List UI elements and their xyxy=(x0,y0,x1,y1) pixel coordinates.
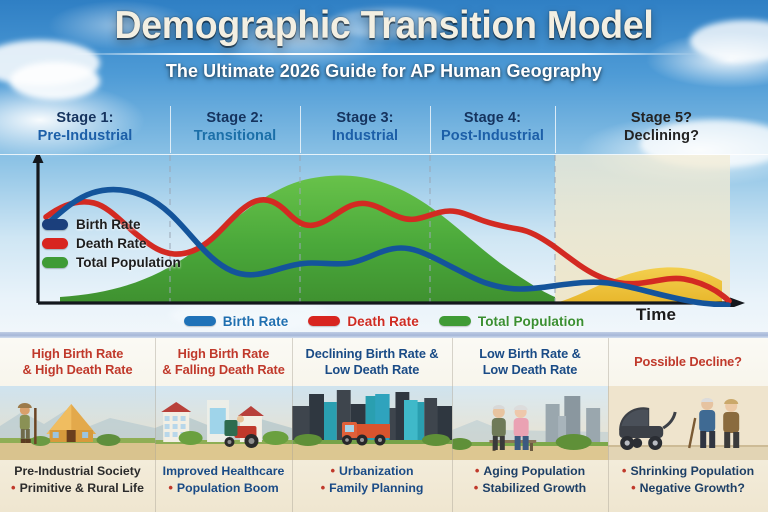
legend-label: Birth Rate xyxy=(76,217,141,232)
card-bullet-list: •Urbanization•Family Planning xyxy=(292,460,452,512)
card-bullet-label: Shrinking Population xyxy=(630,463,754,480)
card-bullet-item: •Urbanization xyxy=(330,463,413,480)
card-illustration-hut-and-villager xyxy=(0,386,155,460)
stage-subtitle: Industrial xyxy=(332,128,398,145)
legend-label: Birth Rate xyxy=(223,314,289,329)
legend-swatch-icon xyxy=(42,219,68,230)
card-bullet-item: Pre-Industrial Society xyxy=(14,463,140,480)
card-bullet-label: Stabilized Growth xyxy=(482,480,586,497)
card-illustration-empty-pram-and-elders xyxy=(608,386,768,460)
legend-swatch-icon xyxy=(42,238,68,249)
bullet-dot-icon: • xyxy=(330,464,335,477)
card-bullet-item: •Family Planning xyxy=(321,480,424,497)
card-bullet-item: •Aging Population xyxy=(475,463,585,480)
legend-item: Total Population xyxy=(42,255,181,270)
card-bullet-list: Improved Healthcare•Population Boom xyxy=(155,460,292,512)
legend-item: Death Rate xyxy=(308,314,419,329)
stage-header-2: Stage 2:Transitional xyxy=(170,100,300,155)
legend-item: Birth Rate xyxy=(42,217,181,232)
bullet-dot-icon: • xyxy=(168,481,173,494)
card-headline: Declining Birth Rate &Low Death Rate xyxy=(292,338,452,386)
card-bullet-list: Pre-Industrial Society•Primitive & Rural… xyxy=(0,460,155,512)
card-bullet-label: Improved Healthcare xyxy=(163,463,285,480)
card-headline: High Birth Rate& Falling Death Rate xyxy=(155,338,292,386)
card-bullet-label: Negative Growth? xyxy=(640,480,745,497)
bullet-dot-icon: • xyxy=(321,481,326,494)
legend-label: Death Rate xyxy=(347,314,419,329)
legend-swatch-icon xyxy=(308,316,340,326)
stage-title: Stage 5? xyxy=(631,110,692,127)
legend-label: Total Population xyxy=(76,255,181,270)
stage-title: Stage 1: xyxy=(56,110,113,127)
card-bullet-label: Primitive & Rural Life xyxy=(20,480,144,497)
card-headline-line1: Declining Birth Rate & xyxy=(306,346,439,362)
legend-item: Birth Rate xyxy=(184,314,289,329)
bullet-dot-icon: • xyxy=(631,481,636,494)
card-headline: Possible Decline? xyxy=(608,338,768,386)
card-bullet-item: •Shrinking Population xyxy=(622,463,754,480)
card-headline: Low Birth Rate &Low Death Rate xyxy=(452,338,608,386)
card-headline-line1: Low Birth Rate & xyxy=(479,346,581,362)
legend-swatch-icon xyxy=(184,316,216,326)
stage-header-5: Stage 5?Declining? xyxy=(555,100,768,155)
chart-bottom-legend: Birth RateDeath RateTotal Population xyxy=(0,310,768,332)
legend-item: Death Rate xyxy=(42,236,181,251)
legend-swatch-icon xyxy=(42,257,68,268)
stage-subtitle: Post-Industrial xyxy=(441,128,544,145)
card-bullet-list: •Shrinking Population•Negative Growth? xyxy=(608,460,768,512)
stage-header-3: Stage 3:Industrial xyxy=(300,100,430,155)
card-bullet-item: •Population Boom xyxy=(168,480,278,497)
card-headline-line2: Low Death Rate xyxy=(325,362,420,378)
card-headline-line2: & Falling Death Rate xyxy=(162,362,284,378)
stage-header-4: Stage 4:Post-Industrial xyxy=(430,100,555,155)
card-headline-line1: Possible Decline? xyxy=(634,354,742,370)
legend-label: Total Population xyxy=(478,314,584,329)
chart-inner-legend: Birth RateDeath RateTotal Population xyxy=(42,217,181,274)
stage-title: Stage 2: xyxy=(206,110,263,127)
card-bullet-item: Improved Healthcare xyxy=(163,463,285,480)
stage-card-3[interactable]: Declining Birth Rate &Low Death Rate•Urb… xyxy=(292,338,452,512)
title-block: Demographic Transition Model The Ultimat… xyxy=(0,6,768,82)
stage-card-4[interactable]: Low Birth Rate &Low Death Rate•Aging Pop… xyxy=(452,338,608,512)
card-bullet-label: Aging Population xyxy=(483,463,585,480)
card-headline-line1: High Birth Rate xyxy=(32,346,124,362)
stage-subtitle: Pre-Industrial xyxy=(38,128,133,145)
card-headline-line2: & High Death Rate xyxy=(23,362,133,378)
stage-card-5[interactable]: Possible Decline?•Shrinking Population•N… xyxy=(608,338,768,512)
card-headline-line1: High Birth Rate xyxy=(178,346,270,362)
bullet-dot-icon: • xyxy=(474,481,479,494)
card-illustration-industrial-city-and-truck xyxy=(292,386,452,460)
card-illustration-town-and-tractor xyxy=(155,386,292,460)
bullet-dot-icon: • xyxy=(11,481,16,494)
legend-item: Total Population xyxy=(439,314,584,329)
bullet-dot-icon: • xyxy=(622,464,627,477)
stage-cards-row: High Birth Rate& High Death RatePre-Indu… xyxy=(0,338,768,512)
stage-header-1: Stage 1:Pre-Industrial xyxy=(0,100,170,155)
legend-label: Death Rate xyxy=(76,236,147,251)
card-headline: High Birth Rate& High Death Rate xyxy=(0,338,155,386)
dtm-chart: Birth RateDeath RateTotal Population xyxy=(0,155,768,307)
card-bullet-item: •Stabilized Growth xyxy=(474,480,586,497)
legend-swatch-icon xyxy=(439,316,471,326)
card-bullet-label: Population Boom xyxy=(177,480,279,497)
stage-title: Stage 4: xyxy=(464,110,521,127)
card-bullet-item: •Negative Growth? xyxy=(631,480,745,497)
card-headline-line2: Low Death Rate xyxy=(483,362,578,378)
card-bullet-label: Urbanization xyxy=(339,463,413,480)
title-divider xyxy=(69,53,699,55)
card-bullet-list: •Aging Population•Stabilized Growth xyxy=(452,460,608,512)
stage-card-2[interactable]: High Birth Rate& Falling Death RateImpro… xyxy=(155,338,292,512)
bullet-dot-icon: • xyxy=(475,464,480,477)
stage-title: Stage 3: xyxy=(336,110,393,127)
page-title: Demographic Transition Model xyxy=(15,6,752,47)
stage-header-band: Stage 1:Pre-IndustrialStage 2:Transition… xyxy=(0,100,768,155)
stage-subtitle: Transitional xyxy=(194,128,277,145)
infographic-poster: Demographic Transition Model The Ultimat… xyxy=(0,0,768,512)
card-bullet-item: •Primitive & Rural Life xyxy=(11,480,144,497)
stage-subtitle: Declining? xyxy=(624,128,699,145)
page-subtitle: The Ultimate 2026 Guide for AP Human Geo… xyxy=(12,60,757,82)
card-bullet-label: Family Planning xyxy=(329,480,423,497)
card-bullet-label: Pre-Industrial Society xyxy=(14,463,140,480)
stage-card-1[interactable]: High Birth Rate& High Death RatePre-Indu… xyxy=(0,338,155,512)
card-illustration-elderly-couple-and-skyline xyxy=(452,386,608,460)
